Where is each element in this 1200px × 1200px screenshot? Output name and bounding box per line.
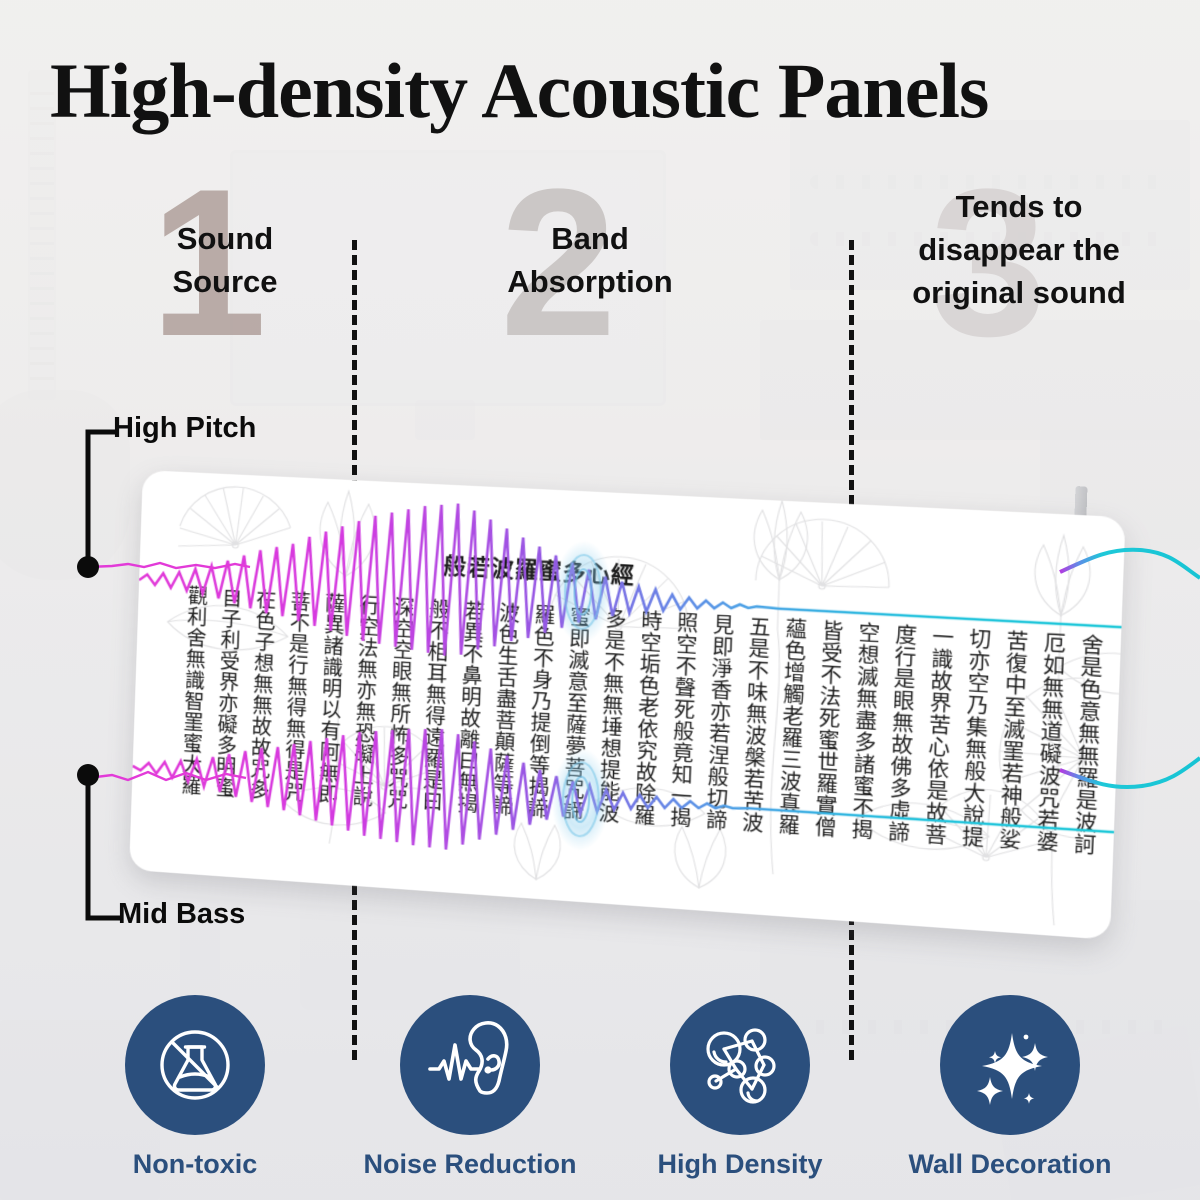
- feature-noise-reduction[interactable]: Noise Reduction: [335, 995, 605, 1180]
- waveform-ear-icon: [422, 1019, 518, 1111]
- callout-label-high-pitch: High Pitch: [113, 412, 256, 445]
- feature-label: Noise Reduction: [335, 1149, 605, 1180]
- no-flask-icon: [149, 1019, 241, 1111]
- high-pitch-leader: [88, 432, 118, 567]
- infographic-canvas: High-density Acoustic Panels 1 2 3 Sound…: [0, 0, 1200, 1200]
- feature-non-toxic[interactable]: Non-toxic: [60, 995, 330, 1180]
- high-pitch-anchor-dot: [77, 556, 99, 578]
- molecule-icon: [694, 1019, 786, 1111]
- callout-label-mid-bass: Mid Bass: [118, 898, 245, 931]
- feature-strip: Non-toxic Noise Reduction: [0, 995, 1200, 1200]
- feature-label: Non-toxic: [60, 1149, 330, 1180]
- feature-icon-badge: [125, 995, 265, 1135]
- feature-icon-badge: [670, 995, 810, 1135]
- feature-label: High Density: [605, 1149, 875, 1180]
- feature-wall-decoration[interactable]: Wall Decoration: [875, 995, 1145, 1180]
- mid-bass-leader: [88, 775, 120, 918]
- feature-icon-badge: [940, 995, 1080, 1135]
- feature-label: Wall Decoration: [875, 1149, 1145, 1180]
- mid-bass-anchor-dot: [77, 764, 99, 786]
- sparkle-icon: [964, 1019, 1056, 1111]
- feature-high-density[interactable]: High Density: [605, 995, 875, 1180]
- feature-icon-badge: [400, 995, 540, 1135]
